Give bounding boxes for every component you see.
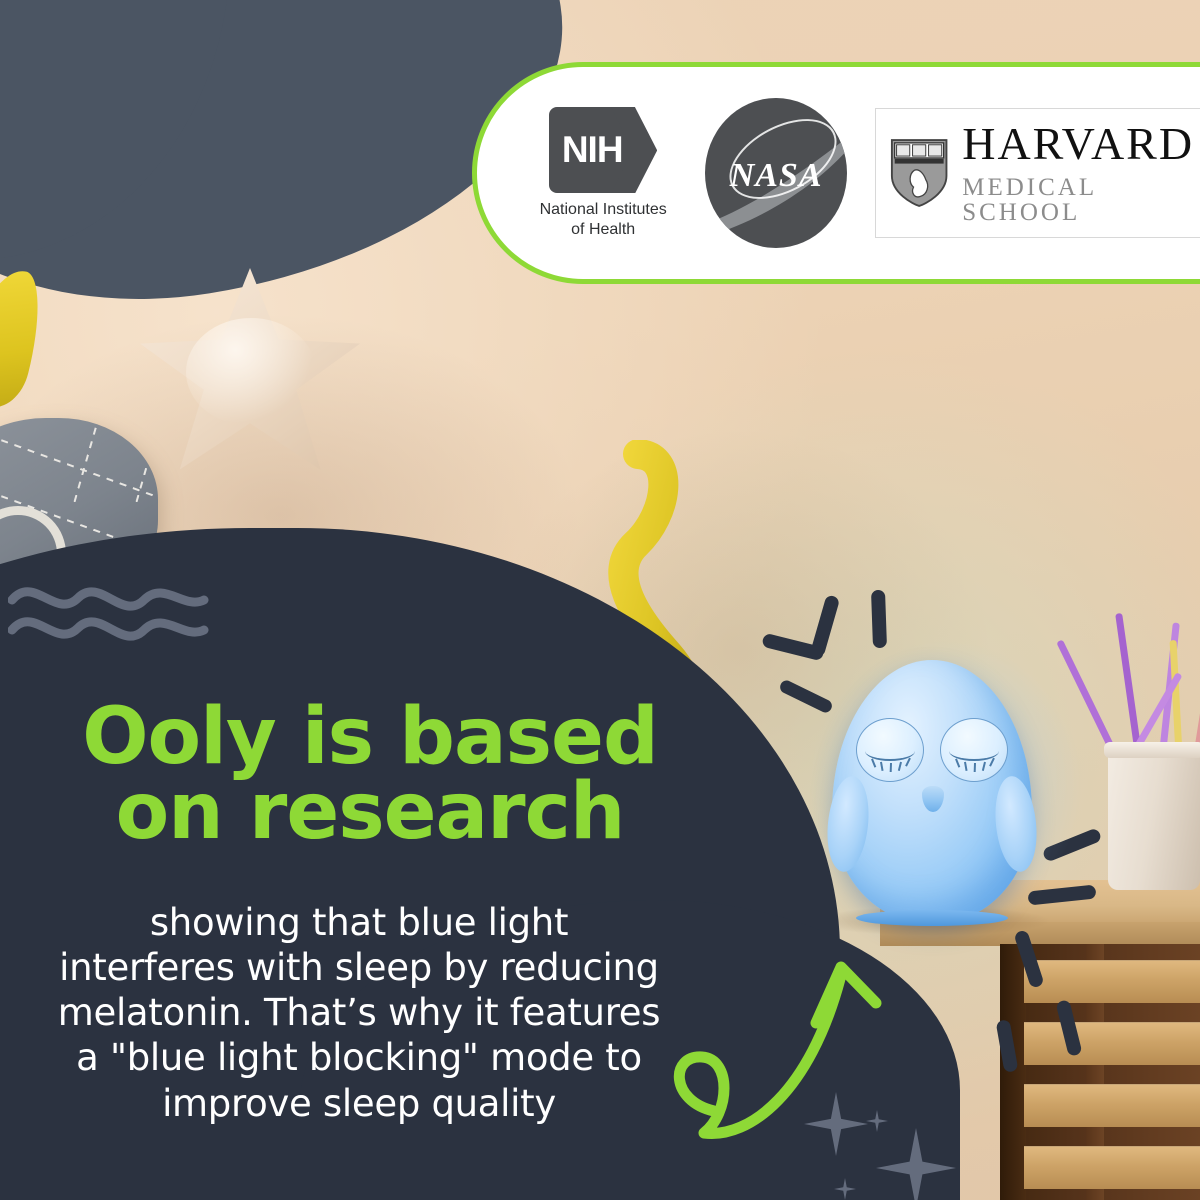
ooly-eyelash — [955, 759, 960, 768]
nih-mark: NIH — [549, 107, 657, 193]
harvard-wordmark: HARVARD MEDICAL SCHOOL — [962, 121, 1200, 225]
ooly-eyelash — [989, 758, 994, 767]
ooly-eye-right — [940, 718, 1008, 782]
ooly-eyelash — [964, 762, 967, 771]
promo-graphic: Ooly is based on research showing that b… — [0, 0, 1200, 1200]
ooly-eyelash — [905, 758, 910, 767]
wave-decoration — [8, 576, 218, 648]
crate-slat — [1024, 1022, 1200, 1065]
ooly-night-light — [832, 660, 1032, 922]
harvard-secondary-text: MEDICAL SCHOOL — [962, 175, 1200, 225]
page-title: Ooly is based on research — [40, 700, 700, 850]
headline-line-1: Ooly is based — [40, 700, 700, 775]
ooly-eyelash — [974, 763, 976, 772]
nasa-wordmark: NASA — [705, 157, 847, 195]
crate-slat — [1024, 1084, 1200, 1127]
harvard-shield-icon — [890, 136, 948, 210]
headline-line-2: on research — [40, 775, 700, 850]
crate-slat — [1024, 960, 1200, 1003]
crate-post — [1000, 944, 1026, 1200]
straw-jar — [1108, 744, 1200, 890]
ooly-eyelash — [890, 763, 892, 772]
nasa-meatball: NASA — [705, 98, 847, 248]
straw-jar-lip — [1104, 742, 1200, 758]
harvard-primary-text: HARVARD — [962, 121, 1200, 167]
body-line-5: improve sleep quality — [14, 1081, 704, 1126]
nih-subtitle-line-1: National Institutes — [540, 200, 667, 219]
body-line-1: showing that blue light — [14, 900, 704, 945]
body-copy: showing that blue light interferes with … — [14, 900, 704, 1126]
ooly-eye-left — [856, 718, 924, 782]
body-line-2: interferes with sleep by reducing — [14, 945, 704, 990]
plush-star-highlight — [186, 318, 316, 426]
nih-subtitle: National Institutes of Health — [540, 200, 667, 238]
ooly-eyelash — [871, 759, 876, 768]
ooly-eyelash — [982, 762, 986, 771]
crate-slat — [1024, 1146, 1200, 1189]
body-line-4: a "blue light blocking" mode to — [14, 1035, 704, 1080]
ooly-eyelash — [880, 762, 883, 771]
nasa-logo: NASA — [705, 98, 847, 248]
harvard-logo: HARVARD MEDICAL SCHOOL — [875, 108, 1200, 238]
nih-subtitle-line-2: of Health — [540, 220, 667, 239]
credibility-logo-badge: NIH National Institutes of Health NASA — [472, 62, 1200, 284]
ooly-eyelash — [898, 762, 902, 771]
body-line-3: melatonin. That’s why it features — [14, 990, 704, 1035]
nih-logo: NIH National Institutes of Health — [523, 107, 683, 238]
